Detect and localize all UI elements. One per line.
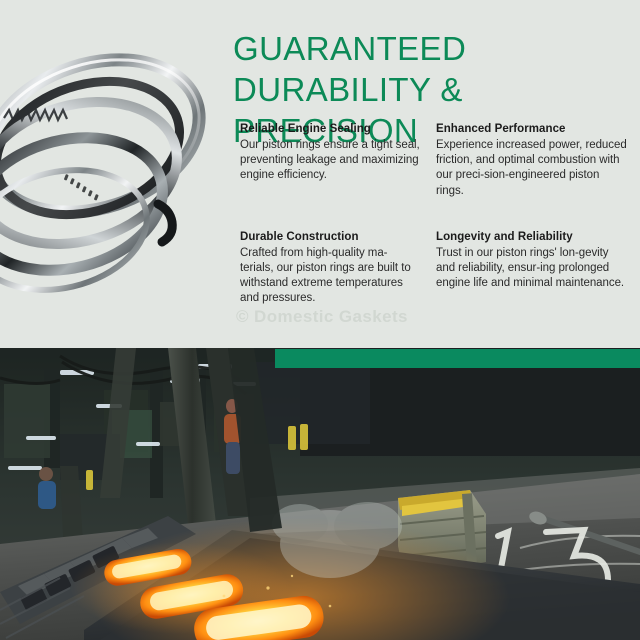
foundry-forge-photo: [0, 348, 640, 640]
feature-title: Longevity and Reliability: [436, 230, 628, 245]
feature-body: Trust in our piston rings' lon-gevity an…: [436, 246, 628, 292]
feature-grid: Reliable Engine Sealing Our piston rings…: [240, 122, 632, 307]
feature-longevity-and-reliability: Longevity and Reliability Trust in our p…: [436, 230, 632, 307]
accent-bar: [275, 349, 640, 368]
top-section: GUARANTEED DURABILITY & PRECISION Reliab…: [0, 0, 640, 348]
watermark: © Domestic Gaskets: [236, 307, 408, 327]
feature-title: Enhanced Performance: [436, 122, 628, 137]
feature-title: Durable Construction: [240, 230, 420, 245]
feature-row-bottom: Durable Construction Crafted from high-q…: [240, 230, 632, 307]
feature-enhanced-performance: Enhanced Performance Experience increase…: [436, 122, 632, 199]
feature-body: Crafted from high-quality ma-terials, ou…: [240, 246, 420, 307]
feature-row-top: Reliable Engine Sealing Our piston rings…: [240, 122, 632, 199]
feature-body: Experience increased power, reduced fric…: [436, 138, 628, 199]
piston-rings-photo: [0, 8, 232, 338]
feature-title: Reliable Engine Sealing: [240, 122, 420, 137]
promotional-graphic: GUARANTEED DURABILITY & PRECISION Reliab…: [0, 0, 640, 640]
feature-reliable-engine-sealing: Reliable Engine Sealing Our piston rings…: [240, 122, 436, 199]
feature-durable-construction: Durable Construction Crafted from high-q…: [240, 230, 436, 307]
grid-spacer: [240, 199, 632, 230]
feature-body: Our piston rings ensure a tight seal, pr…: [240, 138, 420, 184]
